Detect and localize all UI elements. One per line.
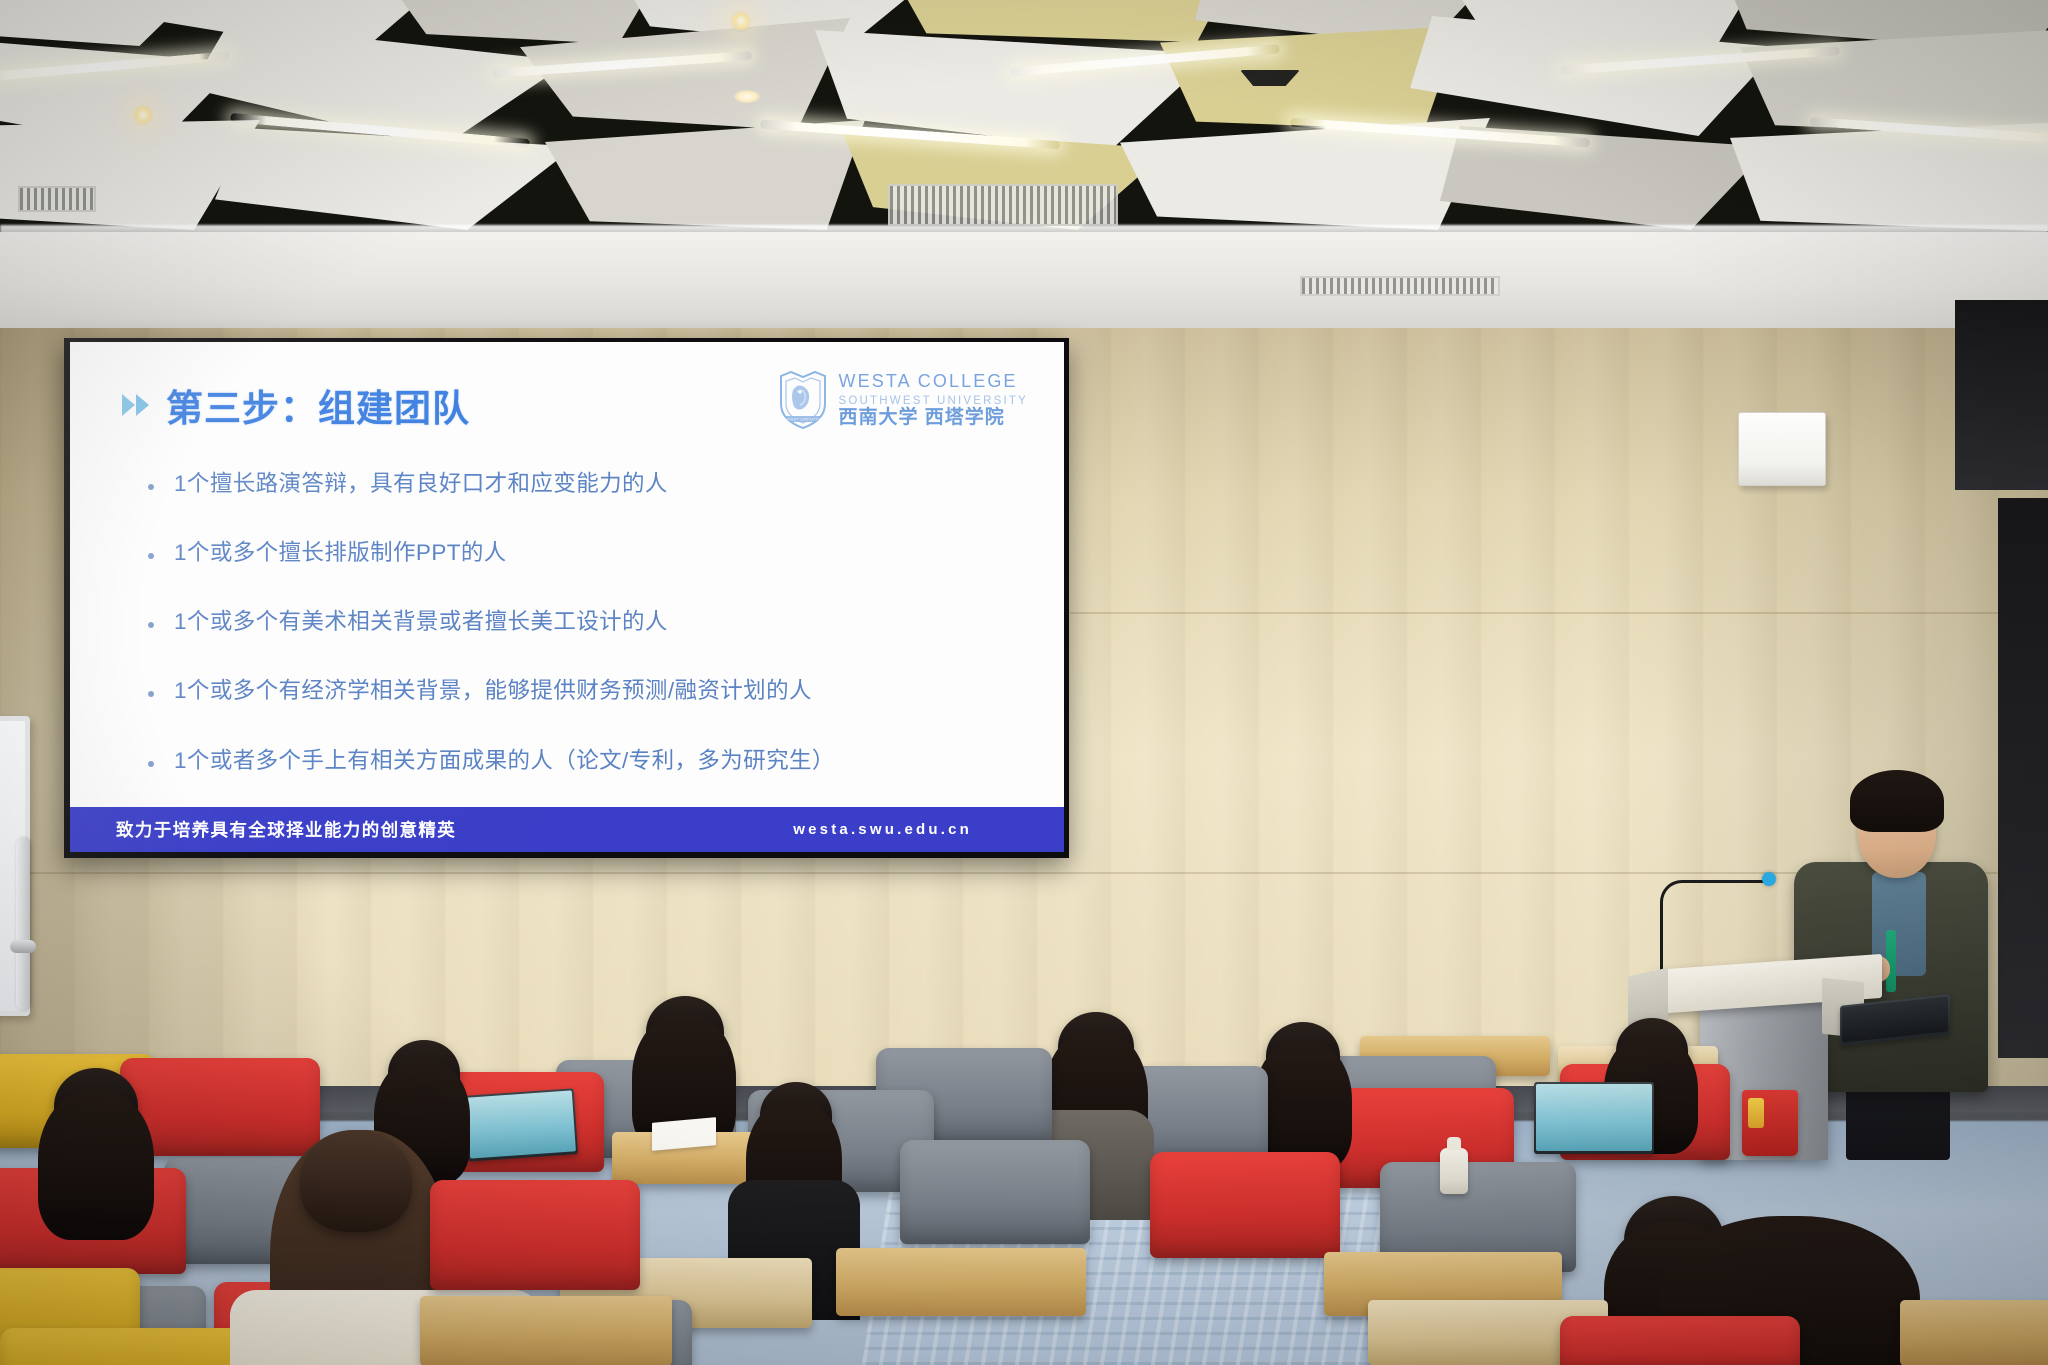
- dark-doorway[interactable]: [1955, 300, 2048, 490]
- ceiling-panel: [1410, 16, 1780, 136]
- ceiling-air-vent-grille: [18, 186, 96, 212]
- laptop-screen: [1842, 996, 1948, 1042]
- list-item: 1个或多个擅长排版制作PPT的人: [148, 539, 1038, 567]
- ceiling-panel: [545, 120, 865, 230]
- laptop-screen: [466, 1090, 576, 1158]
- svg-text:SMART CREATIVE: SMART CREATIVE: [784, 418, 821, 422]
- ceiling-panel: [1740, 28, 2048, 136]
- ceiling-downlight: [734, 90, 760, 103]
- double-chevron-right-icon: [122, 394, 149, 416]
- wall-control-panel[interactable]: [1738, 412, 1826, 486]
- attendee-laptop[interactable]: [464, 1088, 578, 1162]
- ceiling-spotlight: [132, 104, 154, 126]
- footer-slogan: 致力于培养具有全球择业能力的创意精英: [116, 817, 456, 842]
- bag-stripe: [1748, 1098, 1764, 1128]
- red-bag: [1742, 1090, 1798, 1156]
- list-item: 1个擅长路演答辩，具有良好口才和应变能力的人: [148, 470, 1038, 498]
- slide-footer-bar: 致力于培养具有全球择业能力的创意精英 westa.swu.edu.cn: [70, 807, 1064, 852]
- footer-url: westa.swu.edu.cn: [793, 821, 972, 838]
- projection-screen: 第三步：组建团队 SMART CREATIVE WESTA COLLEGE SO…: [64, 338, 1069, 858]
- slide-title-row: 第三步：组建团队: [122, 378, 470, 432]
- bullet-dot-icon: [148, 622, 154, 628]
- ceiling-panel: [395, 0, 655, 44]
- ceiling-panel: [1440, 126, 1770, 230]
- microphone-head-icon: [1762, 872, 1776, 886]
- bullet-dot-icon: [148, 484, 154, 490]
- ceiling-air-vent-grille: [1300, 276, 1500, 296]
- shield-lion-crest-icon: SMART CREATIVE: [777, 370, 829, 430]
- bullet-dot-icon: [148, 761, 154, 767]
- seat[interactable]: [430, 1180, 640, 1290]
- whiteboard-rail: [16, 838, 30, 1010]
- seat[interactable]: [1150, 1152, 1340, 1258]
- presenter-hair: [1850, 770, 1944, 832]
- list-item: 1个或者多个手上有相关方面成果的人（论文/专利，多为研究生）: [148, 747, 1038, 775]
- westa-college-logo: SMART CREATIVE WESTA COLLEGE SOUTHWEST U…: [777, 370, 1028, 430]
- notebook-paper: [652, 1117, 716, 1151]
- attendee-hair: [38, 1090, 154, 1240]
- bullet-text: 1个或多个有美术相关背景或者擅长美工设计的人: [174, 608, 668, 636]
- presentation-slide: 第三步：组建团队 SMART CREATIVE WESTA COLLEGE SO…: [70, 342, 1064, 852]
- wall-seam: [0, 872, 2048, 874]
- slide-bullet-list: 1个擅长路演答辩，具有良好口才和应变能力的人 1个或多个擅长排版制作PPT的人 …: [148, 470, 1038, 816]
- list-item: 1个或多个有经济学相关背景，能够提供财务预测/融资计划的人: [148, 677, 1038, 705]
- ceiling-spotlight: [730, 10, 752, 32]
- bullet-text: 1个或多个有经济学相关背景，能够提供财务预测/融资计划的人: [174, 677, 812, 705]
- slide-title: 第三步：组建团队: [166, 378, 470, 432]
- ceiling-panel: [900, 0, 1230, 42]
- attendee-laptop[interactable]: [1534, 1082, 1654, 1154]
- audience-desk: [836, 1248, 1086, 1316]
- logo-line-en-primary: WESTA COLLEGE: [839, 371, 1018, 391]
- seat[interactable]: [1560, 1316, 1800, 1365]
- bullet-dot-icon: [148, 691, 154, 697]
- laptop-screen: [1536, 1084, 1652, 1151]
- seat[interactable]: [900, 1140, 1090, 1244]
- bullet-text: 1个或多个擅长排版制作PPT的人: [174, 539, 507, 567]
- ceiling-air-vent-grille: [888, 184, 1118, 226]
- list-item: 1个或多个有美术相关背景或者擅长美工设计的人: [148, 608, 1038, 636]
- bullet-text: 1个或者多个手上有相关方面成果的人（论文/专利，多为研究生）: [174, 747, 835, 775]
- attendee-head: [300, 1130, 412, 1232]
- audience-desk: [1900, 1300, 2048, 1365]
- logo-line-cn: 西南大学 西塔学院: [839, 407, 1005, 428]
- whiteboard-knob[interactable]: [10, 940, 36, 953]
- lecture-hall-scene: 第三步：组建团队 SMART CREATIVE WESTA COLLEGE SO…: [0, 0, 2048, 1365]
- bullet-dot-icon: [148, 553, 154, 559]
- wall-seam: [1070, 612, 2048, 614]
- ceiling-panel: [0, 120, 260, 230]
- logo-line-en-secondary: SOUTHWEST UNIVERSITY: [839, 395, 1028, 407]
- attendee-hair: [1254, 1040, 1352, 1170]
- ceiling-soffit: [0, 232, 2048, 328]
- water-bottle[interactable]: [1440, 1148, 1468, 1194]
- logo-text-block: WESTA COLLEGE SOUTHWEST UNIVERSITY 西南大学 …: [839, 372, 1028, 429]
- bullet-text: 1个擅长路演答辩，具有良好口才和应变能力的人: [174, 470, 668, 498]
- dark-doorway[interactable]: [1998, 498, 2048, 1058]
- audience-desk: [420, 1296, 672, 1365]
